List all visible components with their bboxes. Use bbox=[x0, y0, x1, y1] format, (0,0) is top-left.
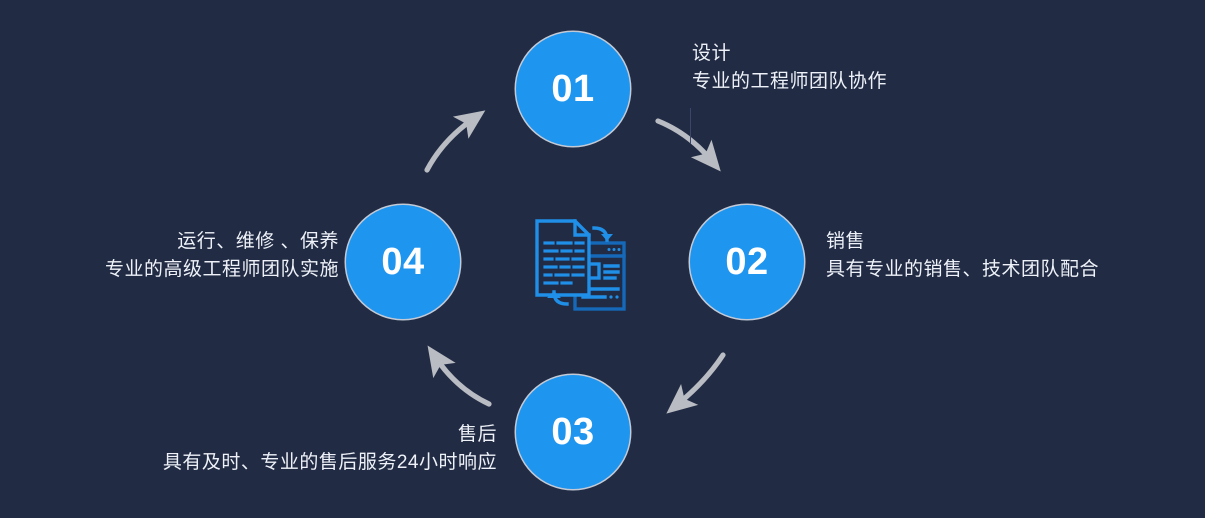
node-number-04: 04 bbox=[381, 243, 424, 281]
arrow-04-to-01 bbox=[427, 119, 473, 170]
caption-divider-tick bbox=[690, 108, 691, 144]
caption-title-02: 销售 bbox=[826, 228, 1099, 256]
cycle-caption-02: 销售 具有专业的销售、技术团队配合 bbox=[826, 228, 1099, 283]
cycle-arrow-top-icon bbox=[594, 228, 613, 241]
caption-desc-01: 专业的工程师团队协作 bbox=[692, 68, 887, 96]
cycle-node-02[interactable]: 02 bbox=[690, 205, 804, 319]
cycle-node-03[interactable]: 03 bbox=[516, 375, 630, 489]
caption-title-01: 设计 bbox=[692, 40, 887, 68]
node-number-03: 03 bbox=[551, 413, 594, 451]
cycle-caption-01: 设计 专业的工程师团队协作 bbox=[692, 40, 887, 95]
caption-desc-03: 具有及时、专业的售后服务24小时响应 bbox=[163, 449, 497, 477]
caption-desc-04: 专业的高级工程师团队实施 bbox=[105, 256, 339, 284]
cycle-caption-03: 售后 具有及时、专业的售后服务24小时响应 bbox=[163, 421, 497, 476]
arrow-03-to-04 bbox=[436, 358, 489, 404]
cycle-caption-04: 运行、维修 、保养 专业的高级工程师团队实施 bbox=[105, 228, 339, 283]
document-exchange-icon bbox=[523, 209, 635, 321]
arrow-01-to-02 bbox=[658, 121, 711, 160]
caption-desc-02: 具有专业的销售、技术团队配合 bbox=[826, 256, 1099, 284]
node-number-01: 01 bbox=[551, 70, 594, 108]
cycle-node-01[interactable]: 01 bbox=[516, 32, 630, 146]
node-number-02: 02 bbox=[725, 243, 768, 281]
caption-title-03: 售后 bbox=[163, 421, 497, 449]
cycle-node-04[interactable]: 04 bbox=[346, 205, 460, 319]
arrow-02-to-03 bbox=[678, 355, 723, 404]
caption-title-04: 运行、维修 、保养 bbox=[105, 228, 339, 256]
cycle-diagram-canvas: 01 02 03 04 设计 专业的工程师团队协作 销售 具有专业的销售、技术团… bbox=[0, 0, 1205, 518]
